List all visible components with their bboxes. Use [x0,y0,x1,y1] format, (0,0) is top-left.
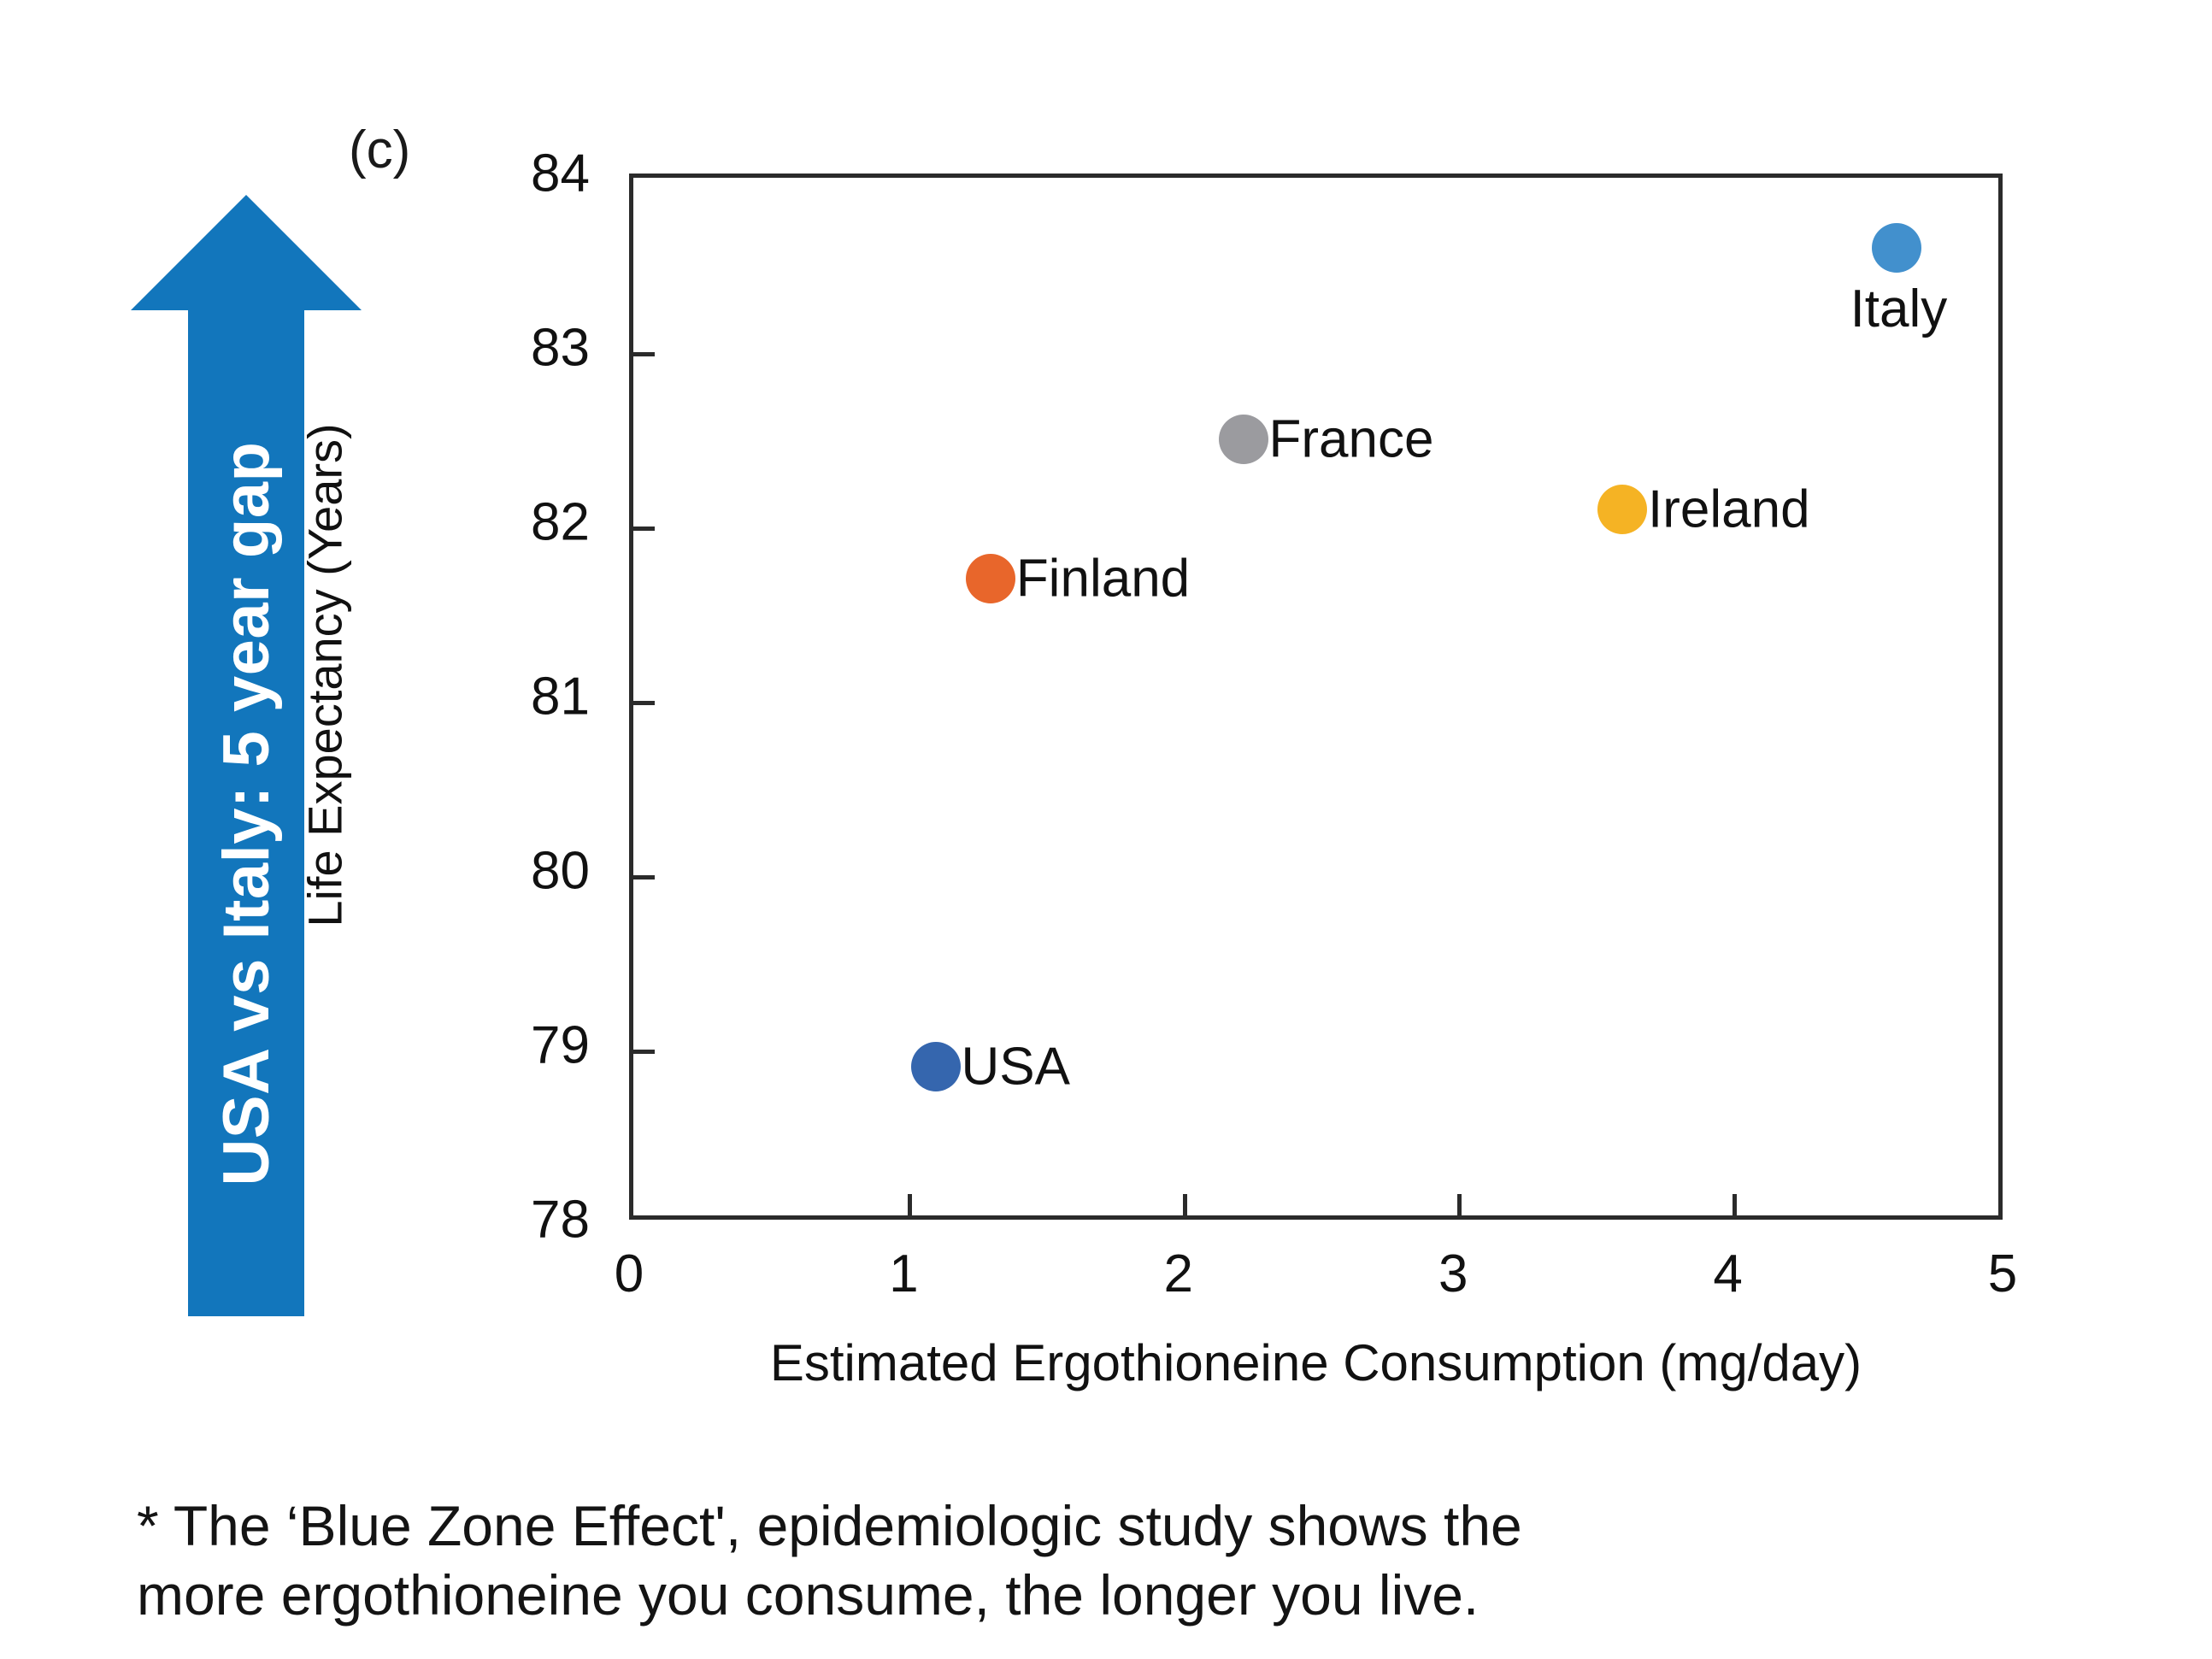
y-axis-tick-label: 78 [462,1190,590,1250]
y-axis-tick-label: 84 [462,144,590,204]
scatter-chart: Life Expectancy (Years) USAFinlandFrance… [0,0,2212,1436]
x-axis-tick-label: 5 [1951,1244,2054,1304]
x-axis-tick-label: 0 [578,1244,680,1304]
x-axis-tick-label: 2 [1127,1244,1230,1304]
x-axis-tick-label: 1 [852,1244,955,1304]
x-axis-title: Estimated Ergothioneine Consumption (mg/… [629,1333,2003,1392]
y-axis-tick-label: 82 [462,492,590,553]
y-axis-tick-label: 80 [462,841,590,902]
x-axis-tick-label: 3 [1402,1244,1504,1304]
axis-tick-labels: 78798081828384012345 [0,0,2212,1436]
y-axis-tick-label: 81 [462,667,590,727]
y-axis-tick-label: 79 [462,1015,590,1076]
footnote-line-2: more ergothioneine you consume, the long… [137,1561,2103,1630]
footnote: * The ‘Blue Zone Effect', epidemiologic … [137,1491,2103,1629]
slide-canvas: USA vs Italy: 5 year gap (c) Life Expect… [0,0,2212,1659]
x-axis-tick-label: 4 [1677,1244,1780,1304]
y-axis-tick-label: 83 [462,318,590,379]
footnote-line-1: * The ‘Blue Zone Effect', epidemiologic … [137,1491,2103,1561]
